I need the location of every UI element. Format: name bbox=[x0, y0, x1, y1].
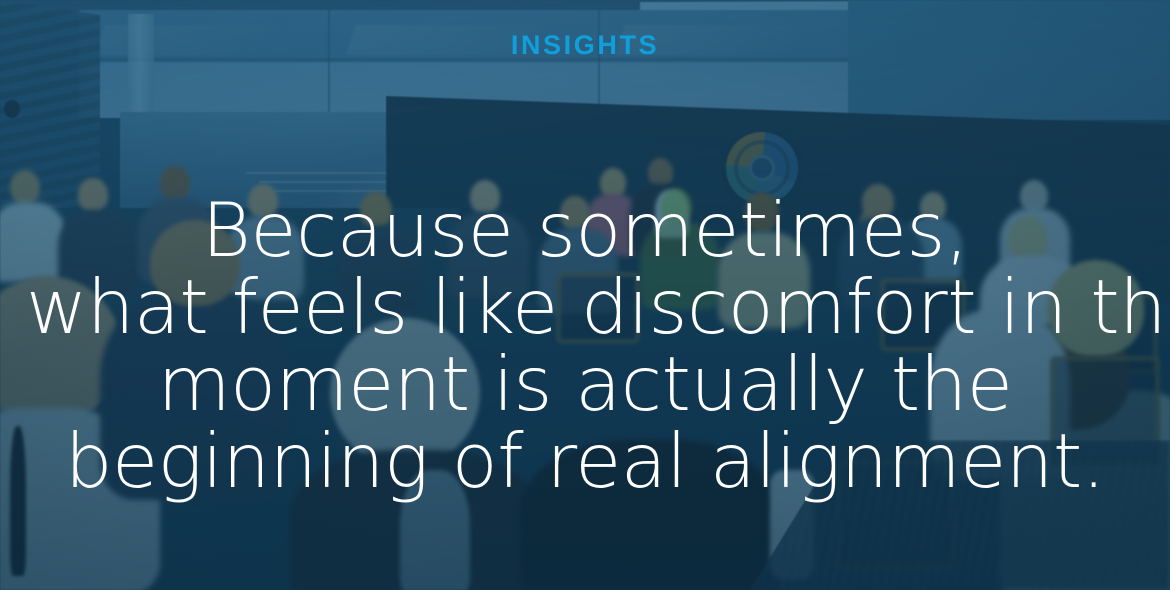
quote-line-3: moment is actually the bbox=[26, 346, 1144, 423]
eyebrow-label: INSIGHTS bbox=[0, 31, 1170, 59]
quote-line-4: beginning of real alignment. bbox=[26, 423, 1144, 500]
insights-quote-card: INSIGHTS Because sometimes, what feels l… bbox=[0, 0, 1170, 590]
quote-text: Because sometimes, what feels like disco… bbox=[0, 192, 1170, 500]
quote-line-1: Because sometimes, bbox=[26, 192, 1144, 269]
quote-line-2: what feels like discomfort in the bbox=[26, 269, 1144, 346]
